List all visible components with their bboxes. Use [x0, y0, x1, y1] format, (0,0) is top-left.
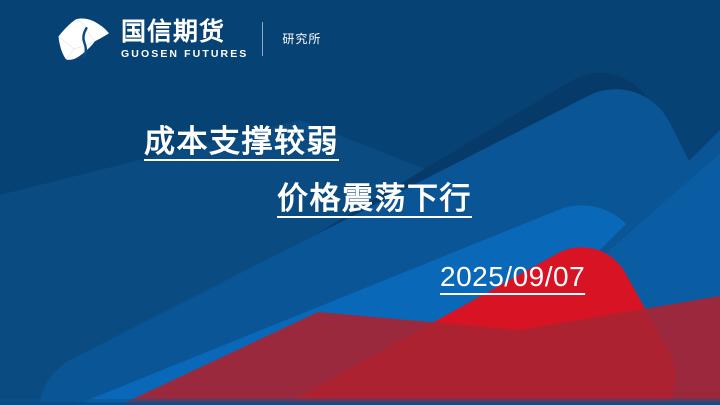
bg-brightblue-parallelogram	[0, 187, 687, 405]
bg-darkred-overlap	[120, 296, 720, 405]
bg-navy-parallelogram	[174, 52, 720, 405]
cover-slide: 国信期货 GUOSEN FUTURES 研究所 成本支撑较弱 价格震荡下行 20…	[0, 0, 720, 405]
brand-department: 研究所	[282, 33, 321, 45]
report-date: 2025/09/07	[440, 261, 585, 293]
bg-red-parallelogram	[225, 229, 693, 405]
bg-bottom-strip	[0, 399, 720, 405]
headline-secondary: 价格震荡下行	[277, 173, 472, 218]
brand-name-cn: 国信期货	[121, 18, 248, 45]
brand-wordmark: 国信期货 GUOSEN FUTURES	[121, 18, 248, 60]
bg-midblue-parallelogram	[18, 68, 720, 405]
headline-primary: 成本支撑较弱	[144, 116, 339, 161]
brand-divider	[262, 22, 263, 56]
brand-name-en: GUOSEN FUTURES	[121, 49, 248, 60]
guosen-folded-banner-logo-icon	[55, 16, 111, 62]
brand-lockup: 国信期货 GUOSEN FUTURES 研究所	[55, 16, 321, 62]
